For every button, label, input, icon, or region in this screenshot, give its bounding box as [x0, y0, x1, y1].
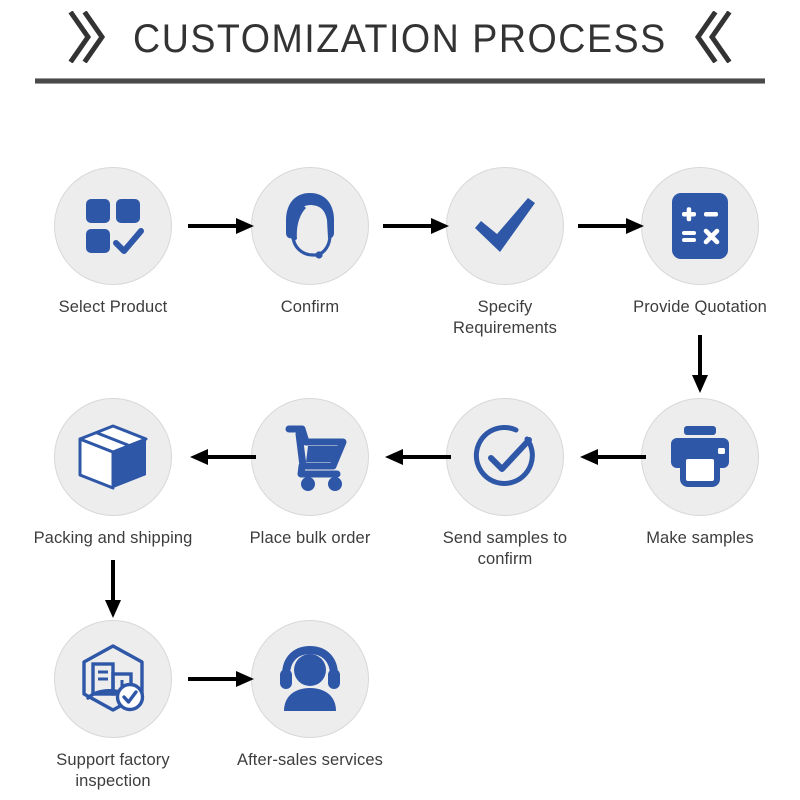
- page-title: CUSTOMIZATION PROCESS: [133, 17, 667, 62]
- step-place-bulk-order[interactable]: Place bulk order: [230, 398, 390, 549]
- chevron-right-double-icon: [64, 11, 106, 67]
- connector-arrow-right: [381, 214, 453, 238]
- step-icon-bubble: [251, 398, 369, 516]
- step-icon-bubble: [446, 167, 564, 285]
- step-label: Specify Requirements: [425, 297, 585, 339]
- step-label: Provide Quotation: [620, 297, 780, 318]
- step-icon-bubble: [641, 398, 759, 516]
- connector-arrow-left: [186, 445, 258, 469]
- title-divider: [35, 78, 765, 84]
- connector-arrow-left: [576, 445, 648, 469]
- page-header: CUSTOMIZATION PROCESS: [0, 8, 800, 70]
- headset-agent-icon: [273, 189, 347, 263]
- factory-badge-icon: [76, 642, 150, 716]
- step-provide-quotation[interactable]: Provide Quotation: [620, 167, 780, 318]
- step-confirm[interactable]: Confirm: [230, 167, 390, 318]
- chevron-left-double-icon: [694, 11, 736, 67]
- step-label: Support factory inspection: [33, 750, 193, 792]
- step-after-sales[interactable]: After-sales services: [230, 620, 390, 771]
- connector-arrow-right: [576, 214, 648, 238]
- grid-check-icon: [78, 191, 148, 261]
- step-icon-bubble: [641, 167, 759, 285]
- connector-arrow-left: [381, 445, 453, 469]
- connector-arrow-down: [101, 558, 125, 620]
- step-icon-bubble: [54, 620, 172, 738]
- step-packing-shipping[interactable]: Packing and shipping: [33, 398, 193, 549]
- step-icon-bubble: [251, 167, 369, 285]
- step-label: Select Product: [33, 297, 193, 318]
- printer-icon: [665, 424, 735, 490]
- check-mark-icon: [469, 190, 541, 262]
- step-label: Confirm: [230, 297, 390, 318]
- step-icon-bubble: [251, 620, 369, 738]
- step-icon-bubble: [54, 167, 172, 285]
- calculator-icon: [668, 190, 732, 262]
- step-label: Packing and shipping: [33, 528, 193, 549]
- step-label: Make samples: [620, 528, 780, 549]
- connector-arrow-right: [186, 214, 258, 238]
- support-person-icon: [274, 645, 346, 713]
- connector-arrow-down: [688, 333, 712, 395]
- step-icon-bubble: [446, 398, 564, 516]
- step-specify-requirements[interactable]: Specify Requirements: [425, 167, 585, 339]
- step-icon-bubble: [54, 398, 172, 516]
- shopping-cart-icon: [273, 422, 347, 492]
- circle-check-icon: [469, 421, 541, 493]
- step-factory-inspection[interactable]: Support factory inspection: [33, 620, 193, 792]
- step-make-samples[interactable]: Make samples: [620, 398, 780, 549]
- connector-arrow-right: [186, 667, 258, 691]
- step-label: Send samples to confirm: [425, 528, 585, 570]
- package-box-icon: [76, 422, 150, 492]
- step-label: Place bulk order: [230, 528, 390, 549]
- step-send-samples[interactable]: Send samples to confirm: [425, 398, 585, 570]
- step-label: After-sales services: [230, 750, 390, 771]
- step-select-product[interactable]: Select Product: [33, 167, 193, 318]
